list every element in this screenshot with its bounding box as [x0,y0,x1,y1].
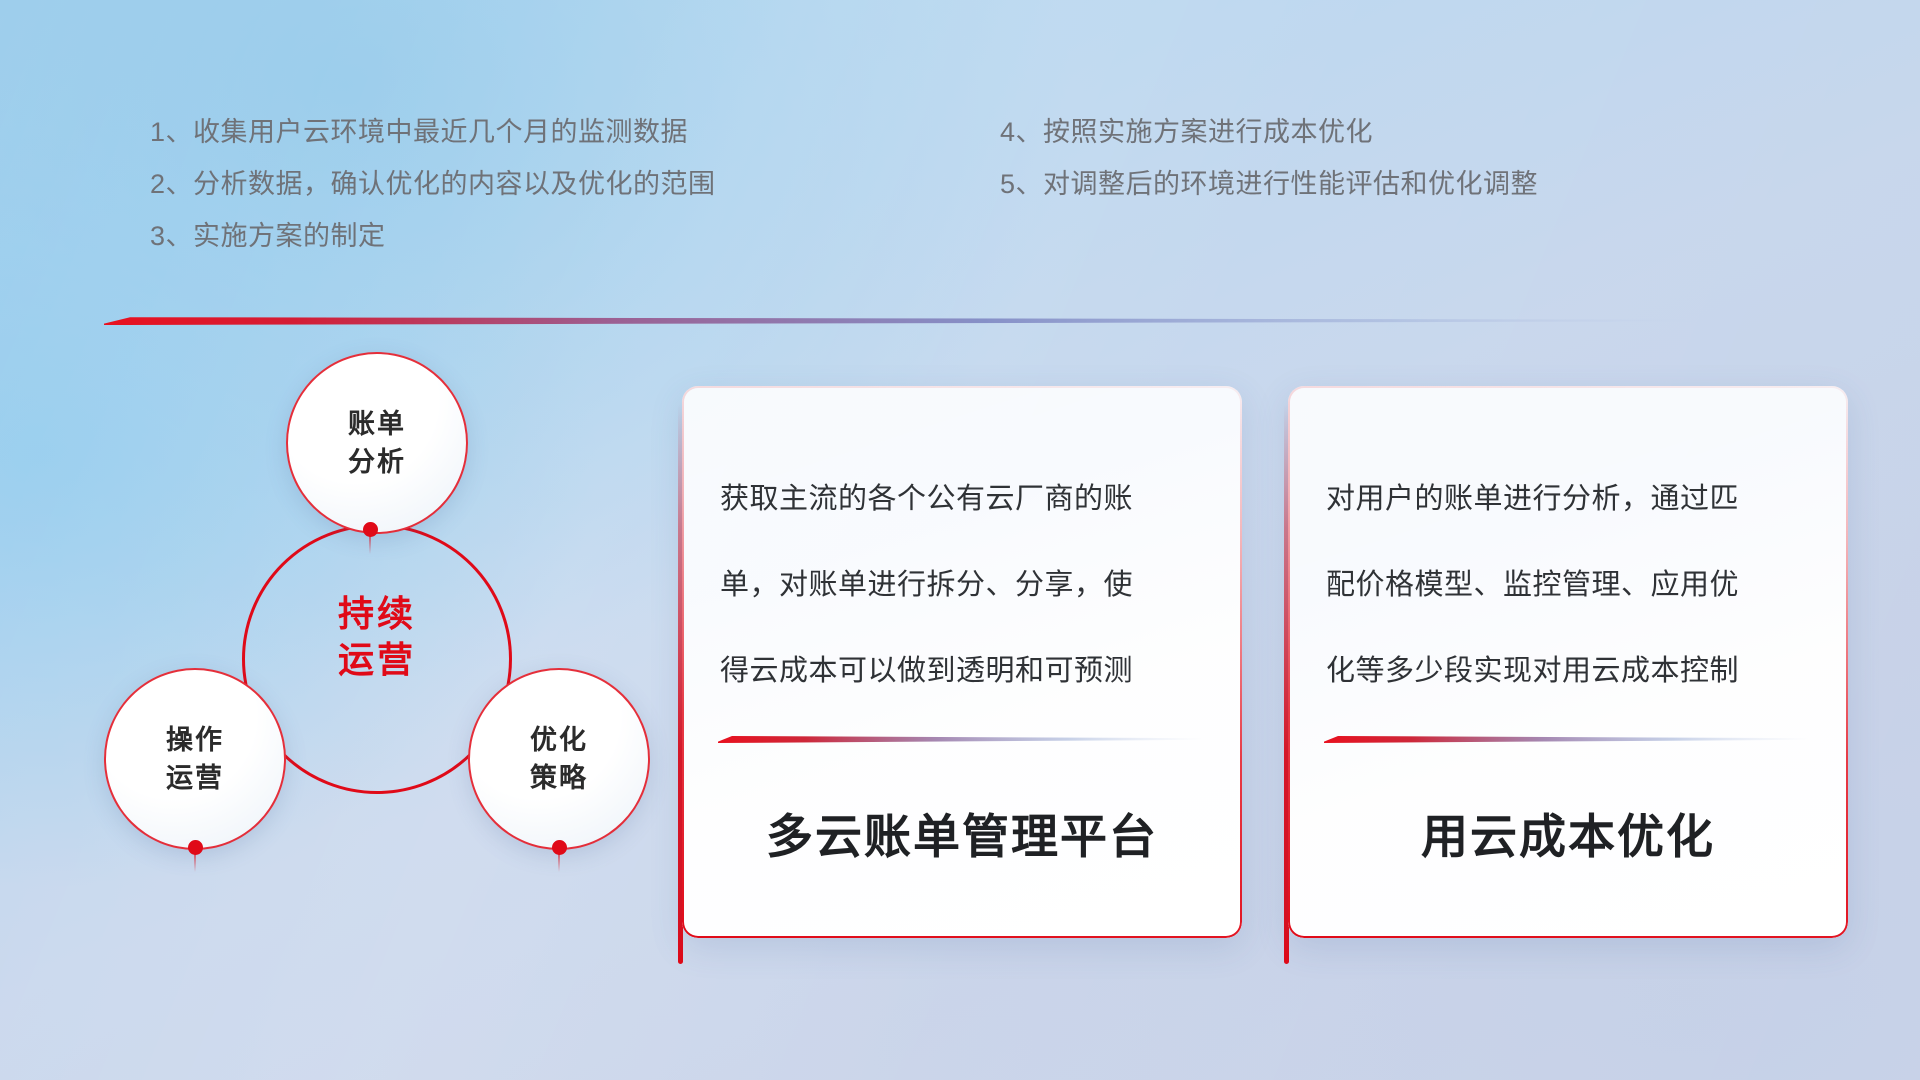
card-title-1: 多云账单管理平台 [682,798,1242,867]
node-label-line-2: 分析 [348,443,406,481]
node-label-line-1: 优化 [530,721,588,759]
section-divider [104,312,1704,321]
card-paragraph-2: 对用户的账单进行分析，通过匹 配价格模型、监控管理、应用优 化等多少段实现对用云… [1326,456,1814,714]
card-paragraph-line: 获取主流的各个公有云厂商的账 [720,456,1208,542]
steps-column-right: 4、按照实施方案进行成本优化 5、对调整后的环境进行性能评估和优化调整 [1000,106,1780,210]
card-accent-rule-1 [718,730,1204,738]
step-item-3: 3、实施方案的制定 [150,210,910,262]
feature-card-multi-cloud-bill-platform[interactable]: 获取主流的各个公有云厂商的账 单，对账单进行拆分、分享，使 得云成本可以做到透明… [682,386,1242,938]
card-paragraph-line: 得云成本可以做到透明和可预测 [720,628,1208,714]
diagram-node-bill-analysis[interactable]: 账单 分析 [286,352,468,534]
node-label-line-1: 操作 [166,721,224,759]
node-dot-right [552,840,567,855]
node-label-line-2: 策略 [530,759,588,797]
feature-card-cloud-cost-optimization[interactable]: 对用户的账单进行分析，通过匹 配价格模型、监控管理、应用优 化等多少段实现对用云… [1288,386,1848,938]
steps-column-left: 1、收集用户云环境中最近几个月的监测数据 2、分析数据，确认优化的内容以及优化的… [150,106,910,262]
continuous-operation-diagram: 持续 运营 账单 分析 操作 运营 优化 策略 [96,352,656,952]
node-dot-left [188,840,203,855]
node-label-line-2: 运营 [166,759,224,797]
diagram-node-optimization-policy[interactable]: 优化 策略 [468,668,650,850]
step-item-4: 4、按照实施方案进行成本优化 [1000,106,1780,158]
node-label-line-1: 账单 [348,405,406,443]
card-paragraph-line: 配价格模型、监控管理、应用优 [1326,542,1814,628]
card-title-2: 用云成本优化 [1288,798,1848,867]
card-paragraph-1: 获取主流的各个公有云厂商的账 单，对账单进行拆分、分享，使 得云成本可以做到透明… [720,456,1208,714]
node-dot-top [363,522,378,537]
step-item-2: 2、分析数据，确认优化的内容以及优化的范围 [150,158,910,210]
center-label-line-1: 持续 [242,591,512,637]
step-item-5: 5、对调整后的环境进行性能评估和优化调整 [1000,158,1780,210]
diagram-node-operation-running[interactable]: 操作 运营 [104,668,286,850]
card-accent-rule-2 [1324,730,1810,738]
step-item-1: 1、收集用户云环境中最近几个月的监测数据 [150,106,910,158]
center-label-line-2: 运营 [242,637,512,683]
card-paragraph-line: 单，对账单进行拆分、分享，使 [720,542,1208,628]
diagram-center-label: 持续 运营 [242,591,512,683]
card-rule-shape [718,735,1204,743]
card-paragraph-line: 对用户的账单进行分析，通过匹 [1326,456,1814,542]
card-paragraph-line: 化等多少段实现对用云成本控制 [1326,628,1814,714]
slide-canvas: 1、收集用户云环境中最近几个月的监测数据 2、分析数据，确认优化的内容以及优化的… [0,0,1920,1080]
divider-shape [104,316,1704,325]
card-rule-shape [1324,735,1810,743]
